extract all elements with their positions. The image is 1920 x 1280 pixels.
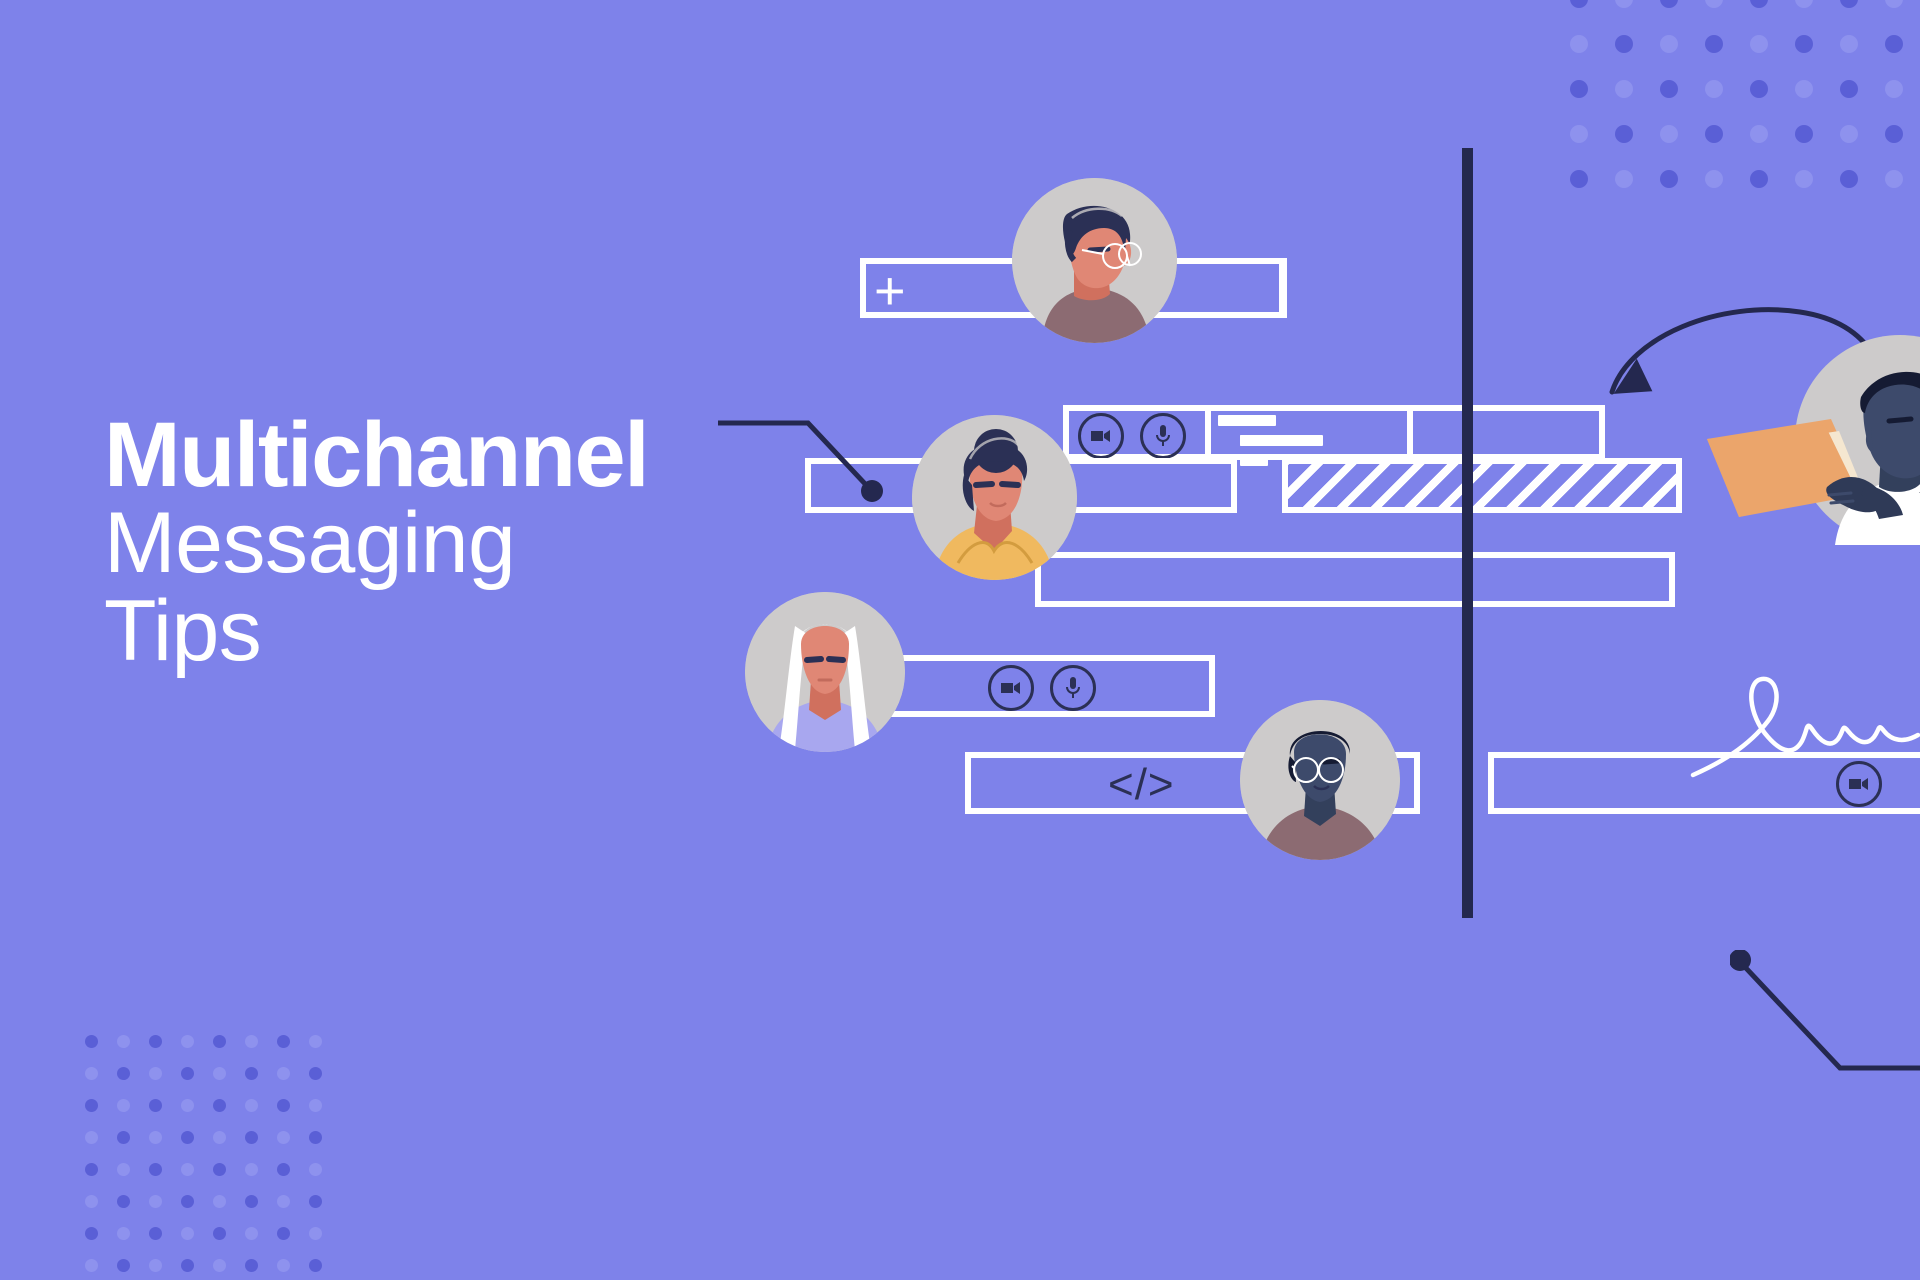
hatched-attachment-bar[interactable] [1282,458,1682,513]
dot [213,1099,226,1112]
dot [1570,170,1588,188]
dot [277,1035,290,1048]
avatar-person-long-white-hair [745,592,905,752]
dot [85,1227,98,1240]
dot [1795,125,1813,143]
dot [85,1259,98,1272]
dot [309,1259,322,1272]
dot [213,1163,226,1176]
dot [1570,35,1588,53]
dot [245,1067,258,1080]
dot [277,1163,290,1176]
dot [181,1131,194,1144]
dot [149,1035,162,1048]
avatar-woman-holding-folder [1795,335,1920,545]
avatar-woman-bun [912,415,1077,580]
plus-icon[interactable]: + [874,264,906,318]
dot [213,1131,226,1144]
dot [149,1227,162,1240]
dot [309,1131,322,1144]
video-camera-icon[interactable] [988,665,1034,711]
dot [309,1099,322,1112]
message-bar-wide[interactable] [1035,552,1675,607]
dot [309,1227,322,1240]
dot [1840,125,1858,143]
dot [277,1195,290,1208]
dot [1795,170,1813,188]
dot [1885,170,1903,188]
dot [1615,170,1633,188]
dot [245,1131,258,1144]
dot [1705,125,1723,143]
dot [1795,35,1813,53]
dot [245,1227,258,1240]
dot [1660,170,1678,188]
dot [1660,125,1678,143]
dot [309,1067,322,1080]
callout-leader-line-left [718,415,898,515]
dot [1570,80,1588,98]
dot [1660,80,1678,98]
dot [1660,0,1678,8]
dot [277,1067,290,1080]
dot [117,1035,130,1048]
title-line-3: Tips [104,588,648,676]
dot [245,1259,258,1272]
dot [117,1227,130,1240]
dot [277,1259,290,1272]
dot [149,1259,162,1272]
dot [149,1131,162,1144]
dot [1615,80,1633,98]
title-line-1: Multichannel [104,410,648,500]
dot [1750,170,1768,188]
dot [1615,35,1633,53]
code-tag-icon[interactable]: </> [1108,763,1175,807]
dot [117,1195,130,1208]
dot [117,1163,130,1176]
dot [149,1099,162,1112]
media-icon-group-1[interactable] [1078,413,1186,459]
dot [181,1067,194,1080]
dot [1840,35,1858,53]
dot [181,1227,194,1240]
dot [277,1227,290,1240]
dot [85,1195,98,1208]
hero-banner: Multichannel Messaging Tips + [0,0,1920,1280]
dot [117,1131,130,1144]
video-camera-icon[interactable] [1078,413,1124,459]
dot [245,1035,258,1048]
avatar-man-glasses-profile [1012,178,1177,343]
dot-grid-bottom-left [85,1035,355,1280]
dot [245,1163,258,1176]
dot [277,1131,290,1144]
dot [213,1195,226,1208]
dot [85,1099,98,1112]
dot [181,1163,194,1176]
dot [1750,35,1768,53]
dot [149,1195,162,1208]
dot [245,1195,258,1208]
dot [309,1035,322,1048]
dot [213,1067,226,1080]
callout-leader-line-right [1730,950,1920,1080]
dot [85,1035,98,1048]
dot [85,1163,98,1176]
microphone-icon[interactable] [1050,665,1096,711]
avatar-man-round-glasses [1240,700,1400,860]
dot [1840,80,1858,98]
title-line-2: Messaging [104,500,648,588]
dot [117,1067,130,1080]
dot [85,1067,98,1080]
dot [1570,0,1588,8]
dot-grid-top-right [1570,0,1920,120]
media-icon-group-2[interactable] [988,665,1096,711]
dot [1750,125,1768,143]
dot [213,1259,226,1272]
dot [1750,0,1768,8]
dot [149,1067,162,1080]
page-title: Multichannel Messaging Tips [104,410,648,676]
signature-squiggle [1690,655,1920,780]
dot [213,1035,226,1048]
dot [309,1163,322,1176]
dot [1795,80,1813,98]
dot [1840,170,1858,188]
dot [1660,35,1678,53]
dot [1885,125,1903,143]
dot [1840,0,1858,8]
dot [85,1131,98,1144]
dot [181,1259,194,1272]
dot [1615,0,1633,8]
dot [1750,80,1768,98]
dot [1705,35,1723,53]
dot [277,1099,290,1112]
dot [1795,0,1813,8]
dot [181,1099,194,1112]
dot [117,1099,130,1112]
dot [1885,35,1903,53]
dot [213,1227,226,1240]
dot [1885,0,1903,8]
dot [181,1035,194,1048]
dot [309,1195,322,1208]
microphone-icon[interactable] [1140,413,1186,459]
dot [117,1259,130,1272]
dot [149,1163,162,1176]
dot [181,1195,194,1208]
dot [245,1099,258,1112]
dot [1705,0,1723,8]
dot [1705,80,1723,98]
dot [1885,80,1903,98]
dot [1615,125,1633,143]
dot [1705,170,1723,188]
vertical-divider [1462,148,1473,918]
dot [1570,125,1588,143]
